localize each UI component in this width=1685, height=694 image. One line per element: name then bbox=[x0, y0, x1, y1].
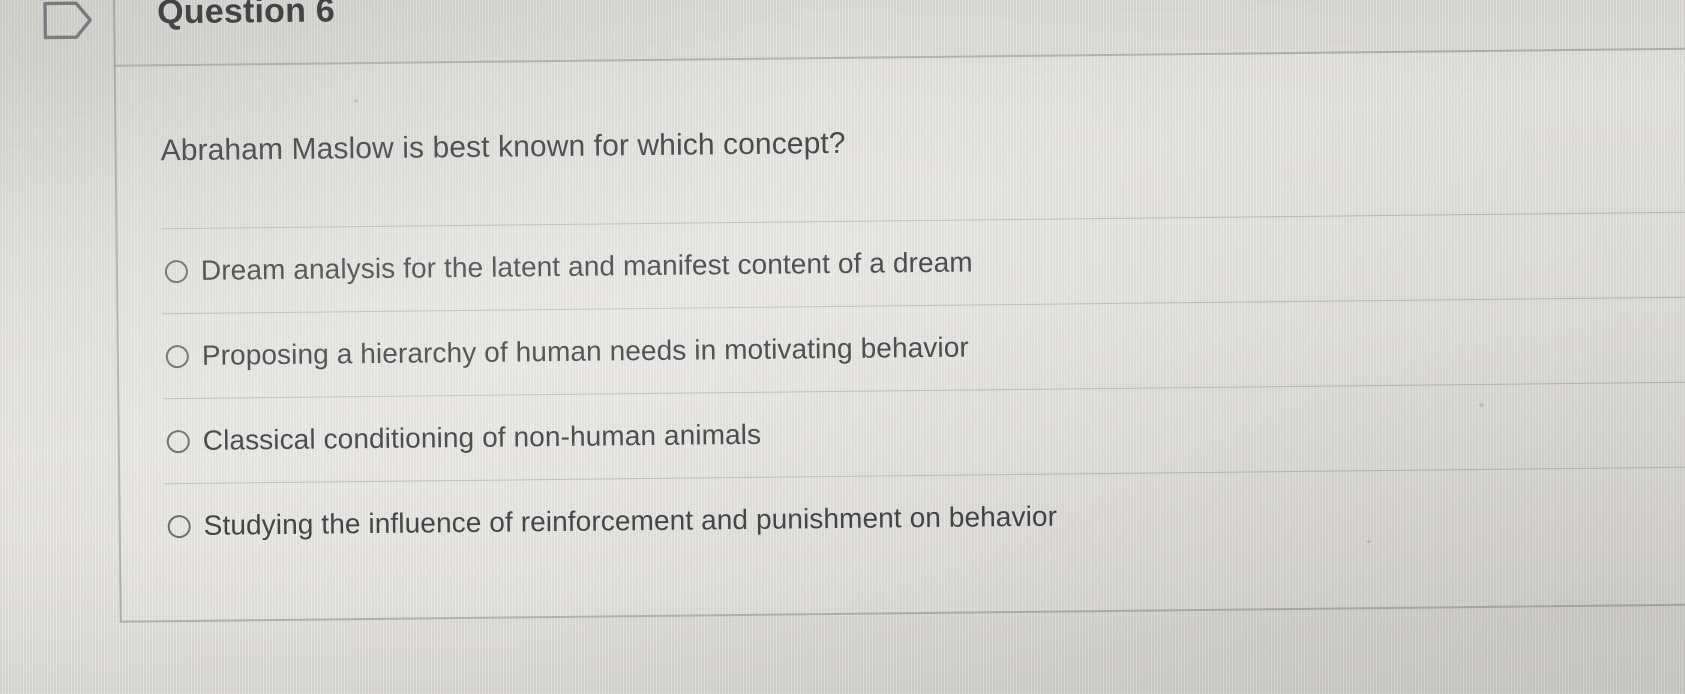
answer-option-2[interactable]: Proposing a hierarchy of human needs in … bbox=[162, 296, 1685, 398]
answer-option-label-2: Proposing a hierarchy of human needs in … bbox=[202, 332, 969, 372]
quiz-page: Question 6 Abraham Maslow is best known … bbox=[0, 0, 1685, 694]
answer-option-label-1: Dream analysis for the latent and manife… bbox=[201, 246, 973, 286]
flag-outline-icon[interactable] bbox=[42, 0, 94, 44]
question-prompt: Abraham Maslow is best known for which c… bbox=[160, 127, 845, 168]
answer-option-label-3: Classical conditioning of non-human anim… bbox=[203, 419, 762, 457]
page-title: Question 6 bbox=[157, 0, 335, 32]
radio-button-icon-1[interactable] bbox=[165, 259, 188, 282]
answer-option-1[interactable]: Dream analysis for the latent and manife… bbox=[161, 211, 1685, 313]
header-vertical-divider bbox=[113, 0, 116, 67]
radio-button-icon-2[interactable] bbox=[166, 344, 189, 367]
answer-options-list: Dream analysis for the latent and manife… bbox=[161, 211, 1685, 568]
answer-option-3[interactable]: Classical conditioning of non-human anim… bbox=[163, 381, 1685, 483]
answer-option-4[interactable]: Studying the influence of reinforcement … bbox=[164, 466, 1685, 568]
radio-button-icon-4[interactable] bbox=[168, 514, 191, 537]
answer-option-label-4: Studying the influence of reinforcement … bbox=[204, 501, 1058, 542]
photographed-screen-surface: Question 6 Abraham Maslow is best known … bbox=[0, 0, 1685, 694]
radio-button-icon-3[interactable] bbox=[167, 429, 190, 452]
question-card: Abraham Maslow is best known for which c… bbox=[114, 47, 1685, 623]
